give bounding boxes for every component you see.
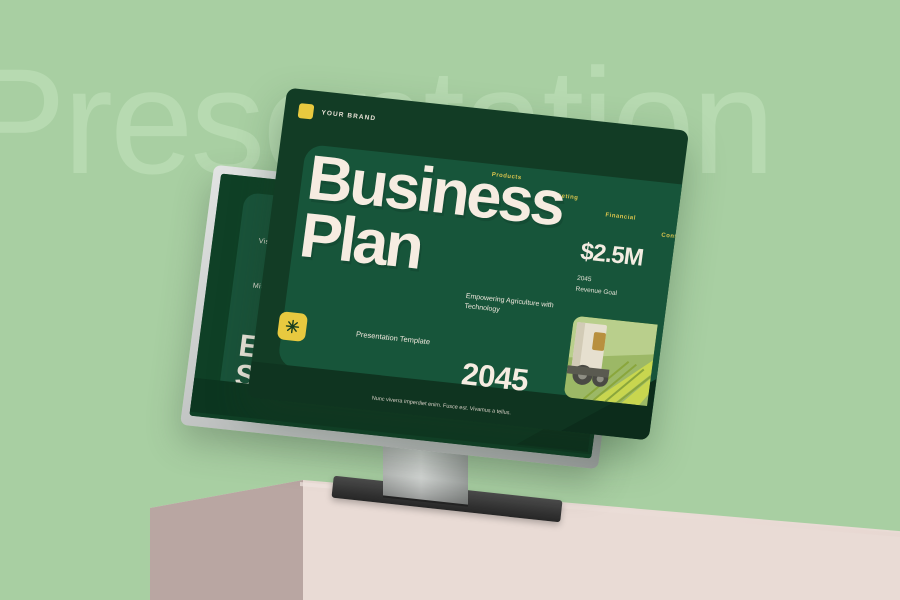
brand-logo-group[interactable]: YOUR BRAND bbox=[298, 103, 378, 126]
mockup-canvas: Presentation Vision Mission Exec Summary bbox=[0, 0, 900, 600]
harvester-field-photo bbox=[564, 316, 658, 406]
asterisk-star-icon bbox=[283, 318, 301, 336]
brand-label: YOUR BRAND bbox=[321, 109, 377, 122]
harvester-field-illustration bbox=[564, 316, 658, 406]
nav-link-financial[interactable]: Financial bbox=[605, 212, 636, 221]
yellow-square-logo-icon bbox=[298, 103, 315, 119]
slide-year: 2045 bbox=[459, 356, 530, 399]
slide-title: Business Plan bbox=[297, 149, 567, 291]
kpi-value: $2.5M bbox=[579, 238, 645, 272]
asterisk-star-icon-button[interactable] bbox=[277, 311, 308, 342]
front-slide: YOUR BRAND Products Marketing Financial … bbox=[247, 88, 689, 441]
kpi-block: $2.5M 2045 Revenue Goal bbox=[575, 238, 644, 299]
